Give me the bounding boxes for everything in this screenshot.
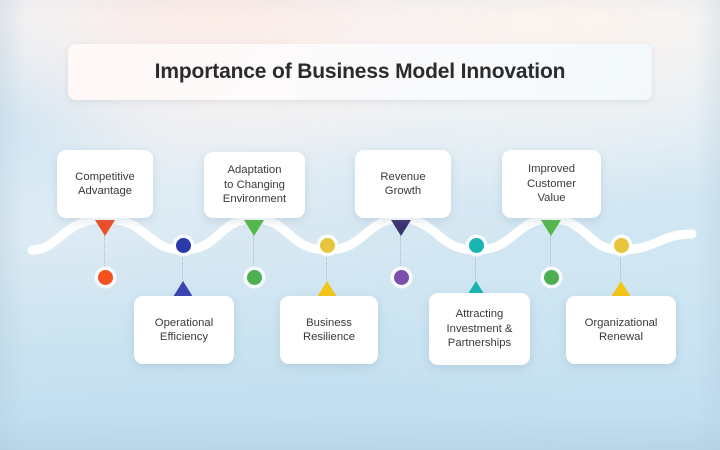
wave-dot-revenue-growth[interactable] [394,270,409,285]
card-label-revenue-growth: Revenue Growth [380,170,425,199]
card-revenue-growth[interactable]: Revenue Growth [355,150,451,218]
slide-canvas: Importance of Business Model Innovation … [0,0,720,450]
card-label-business-resilience: Business Resilience [303,316,355,345]
card-label-operational-efficiency: Operational Efficiency [155,316,213,345]
card-attracting-investment-partnerships[interactable]: Attracting Investment & Partnerships [429,293,530,365]
connector-stem-organizational-renewal [620,252,621,282]
card-operational-efficiency[interactable]: Operational Efficiency [134,296,234,364]
wave-dot-adaptation-to-changing-environment[interactable] [247,270,262,285]
card-competitive-advantage[interactable]: Competitive Advantage [57,150,153,218]
wave-dot-competitive-advantage[interactable] [98,270,113,285]
triangle-marker-organizational-renewal [611,281,631,297]
wave-dot-attracting-investment-partnerships[interactable] [469,238,484,253]
wave-dot-improved-customer-value[interactable] [544,270,559,285]
triangle-marker-business-resilience [317,281,337,297]
card-label-organizational-renewal: Organizational Renewal [585,316,658,345]
wave-path [32,219,692,250]
wave-dot-organizational-renewal[interactable] [614,238,629,253]
card-business-resilience[interactable]: Business Resilience [280,296,378,364]
card-adaptation-to-changing-environment[interactable]: Adaptation to Changing Environment [204,152,305,218]
connector-stem-operational-efficiency [182,252,183,282]
triangle-marker-adaptation-to-changing-environment [244,220,264,236]
triangle-marker-competitive-advantage [95,220,115,236]
title-banner: Importance of Business Model Innovation [68,44,652,100]
card-label-attracting-investment-partnerships: Attracting Investment & Partnerships [447,307,513,350]
card-label-improved-customer-value: Improved Customer Value [527,162,576,205]
connector-stem-business-resilience [326,252,327,282]
triangle-marker-improved-customer-value [541,220,561,236]
connector-stem-attracting-investment-partnerships [475,252,476,282]
card-label-competitive-advantage: Competitive Advantage [75,170,135,199]
card-organizational-renewal[interactable]: Organizational Renewal [566,296,676,364]
wave-dot-business-resilience[interactable] [320,238,335,253]
triangle-marker-operational-efficiency [173,281,193,297]
page-title: Importance of Business Model Innovation [155,60,566,84]
triangle-marker-revenue-growth [391,220,411,236]
card-improved-customer-value[interactable]: Improved Customer Value [502,150,601,218]
wave-dot-operational-efficiency[interactable] [176,238,191,253]
card-label-adaptation-to-changing-environment: Adaptation to Changing Environment [223,163,286,206]
